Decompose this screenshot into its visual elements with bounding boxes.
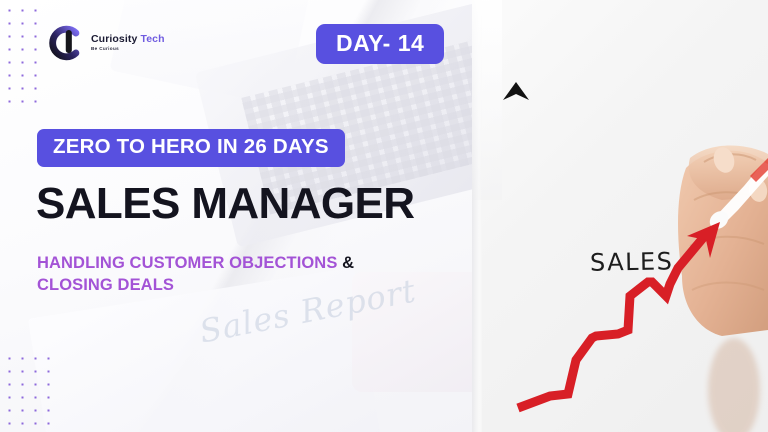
subtitle-ampersand: &	[337, 254, 354, 272]
hand-holding-marker-icon	[678, 145, 768, 336]
day-badge: DAY- 14	[316, 24, 444, 64]
subtitle-line-2: CLOSING DEALS	[37, 276, 174, 294]
text-content-stack: Curiosity Tech Be Curious DAY- 14 ZERO T…	[0, 0, 472, 432]
left-content-panel: Sales Report	[0, 0, 472, 432]
artwork-panel: SALES	[472, 0, 768, 432]
curiosity-tech-logo-icon	[46, 24, 84, 62]
sales-chart-artwork	[472, 0, 768, 432]
brand-tagline: Be Curious	[91, 47, 165, 52]
arm-shadow	[708, 338, 760, 432]
course-ribbon: ZERO TO HERO IN 26 DAYS	[37, 129, 345, 167]
brand-name: Curiosity Tech	[91, 34, 165, 45]
brand-wordmark: Curiosity Tech Be Curious	[91, 34, 165, 52]
brand-logo: Curiosity Tech Be Curious	[46, 24, 165, 62]
page-title: SALES MANAGER	[36, 182, 414, 226]
brand-name-part2: Tech	[140, 33, 164, 45]
subtitle: HANDLING CUSTOMER OBJECTIONS &CLOSING DE…	[37, 253, 354, 297]
subtitle-line-1: HANDLING CUSTOMER OBJECTIONS	[37, 254, 337, 272]
brand-name-part1: Curiosity	[91, 33, 137, 45]
chart-label-sales: SALES	[590, 247, 674, 276]
course-promo-poster: Sales Report	[0, 0, 768, 432]
